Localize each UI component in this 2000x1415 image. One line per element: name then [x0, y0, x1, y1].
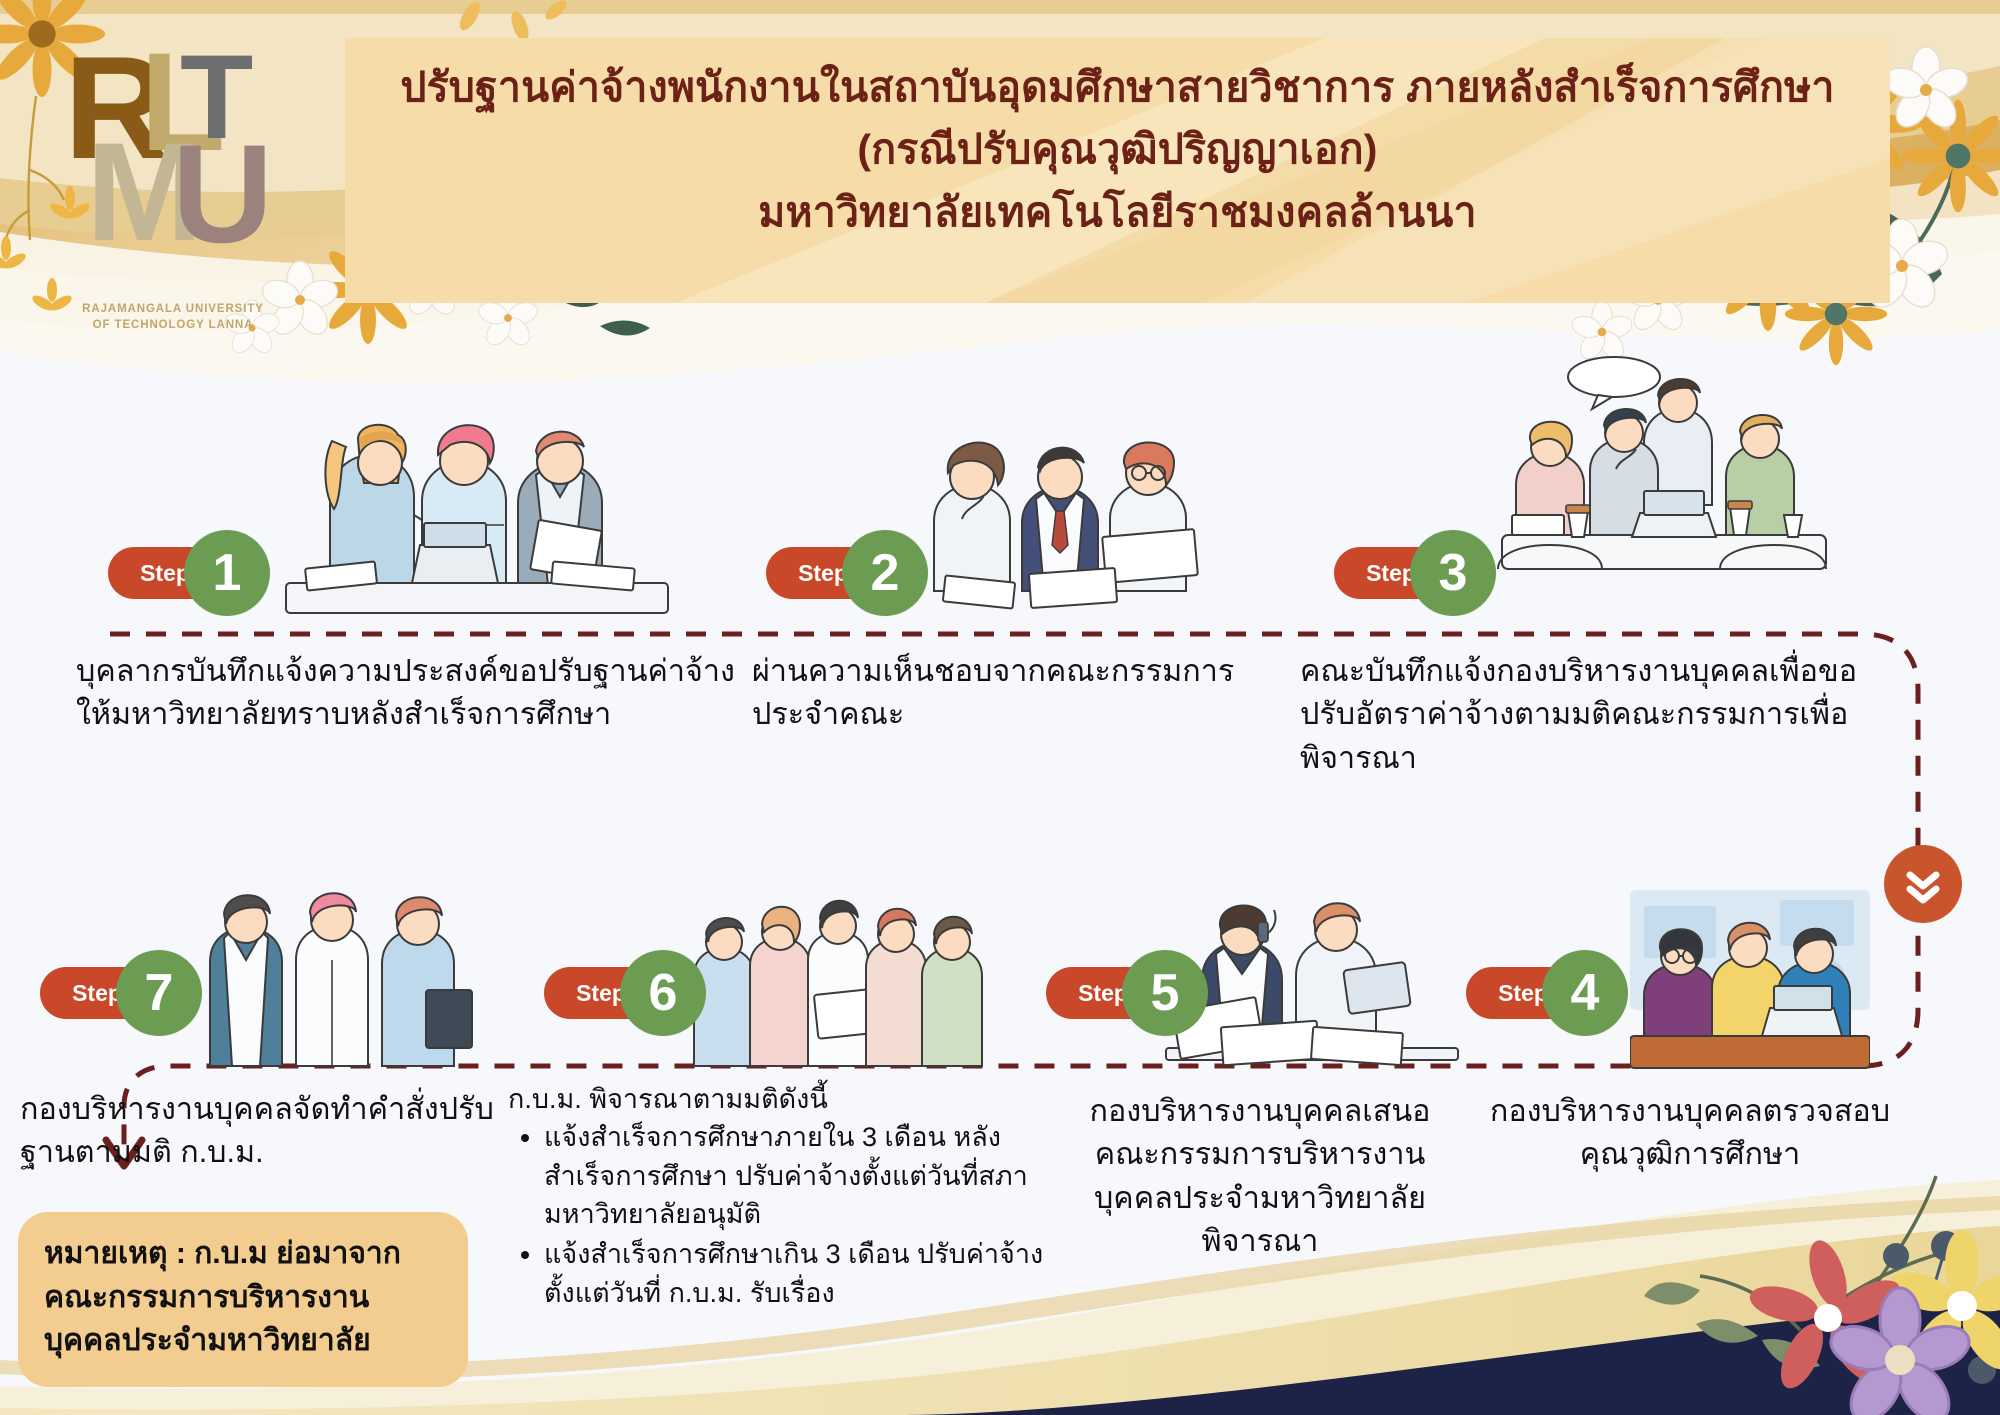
- step-3-description: คณะบันทึกแจ้งกองบริหารงานบุคคลเพื่อขอปรั…: [1300, 650, 1900, 780]
- step-7-description: กองบริหารงานบุคคลจัดทำคำสั่งปรับฐานตามมต…: [20, 1088, 500, 1175]
- step-1-badge[interactable]: Step 1: [108, 530, 270, 616]
- step-7-illustration: [200, 880, 490, 1080]
- logo-subtitle: RAJAMANGALA UNIVERSITY OF TECHNOLOGY LAN…: [68, 302, 278, 333]
- person-right-light-blue: [382, 897, 472, 1066]
- step-6-bullet-2: แจ้งสำเร็จการศึกษาเกิน 3 เดือน ปรับค่าจ้…: [544, 1235, 1068, 1312]
- step-6-badge[interactable]: Step 6: [544, 950, 706, 1036]
- step-4-illustration: [1630, 880, 1870, 1075]
- title-line-3: มหาวิทยาลัยเทคโนโลยีราชมงคลล้านนา: [345, 181, 1890, 243]
- step-2-description: ผ่านความเห็นชอบจากคณะกรรมการประจำคณะ: [752, 650, 1292, 737]
- step-2-illustration: [918, 415, 1228, 620]
- step-1-description: บุคลากรบันทึกแจ้งความประสงค์ขอปรับฐานค่า…: [76, 650, 736, 737]
- step-6-number: 6: [620, 950, 706, 1036]
- laptop-icon: [1632, 491, 1716, 537]
- step-6-heading: ก.บ.ม. พิจารณาตามมติดังนี้: [508, 1080, 1068, 1118]
- note-box: หมายเหตุ : ก.บ.ม ย่อมาจาก คณะกรรมการบริห…: [18, 1212, 468, 1387]
- step-4-number: 4: [1542, 950, 1628, 1036]
- title-line-1: ปรับฐานค่าจ้างพนักงานในสถาบันอุดมศึกษาสา…: [345, 56, 1890, 118]
- note-text: หมายเหตุ : ก.บ.ม ย่อมาจาก คณะกรรมการบริห…: [44, 1237, 401, 1357]
- step-3-number: 3: [1410, 530, 1496, 616]
- person-thinking: [934, 443, 1010, 591]
- step-7-badge[interactable]: Step 7: [40, 950, 202, 1036]
- flow-connector-button[interactable]: [1884, 845, 1962, 923]
- university-logo: R L T M U RAJAMANGALA UNIVERSITY OF TECH…: [62, 30, 282, 300]
- step-6-bullet-list: แจ้งสำเร็จการศึกษาภายใน 3 เดือน หลังสำเร…: [508, 1118, 1068, 1312]
- page-title: ปรับฐานค่าจ้างพนักงานในสถาบันอุดมศึกษาสา…: [345, 56, 1890, 243]
- speech-bubble-icon: [1568, 357, 1660, 409]
- logo-subtitle-line2: OF TECHNOLOGY LANNA: [68, 318, 278, 334]
- step-1-illustration: [272, 405, 682, 620]
- laptop-icon: [1762, 986, 1842, 1036]
- step-5-description: กองบริหารงานบุคคลเสนอคณะกรรมการบริหารงาน…: [1060, 1090, 1460, 1263]
- person-4: [866, 909, 926, 1066]
- step-3-illustration: [1494, 355, 1834, 625]
- step-6-description: ก.บ.ม. พิจารณาตามมติดังนี้ แจ้งสำเร็จการ…: [508, 1080, 1068, 1314]
- svg-text:U: U: [172, 115, 273, 245]
- person-glasses-reading: [1102, 442, 1198, 591]
- person-5: [922, 917, 982, 1066]
- title-line-2: (กรณีปรับคุณวุฒิปริญญาเอก): [345, 118, 1890, 180]
- step-6-illustration: [690, 880, 1020, 1080]
- double-chevron-down-icon: [1900, 861, 1946, 907]
- step-2-badge[interactable]: Step 2: [766, 530, 928, 616]
- step-5-badge[interactable]: Step 5: [1046, 950, 1208, 1036]
- step-5-number: 5: [1122, 950, 1208, 1036]
- laptop-icon: [412, 523, 498, 583]
- step-6-bullet-1: แจ้งสำเร็จการศึกษาภายใน 3 เดือน หลังสำเร…: [544, 1118, 1068, 1233]
- infographic-canvas: R L T M U RAJAMANGALA UNIVERSITY OF TECH…: [0, 0, 2000, 1415]
- step-3-badge[interactable]: Step 3: [1334, 530, 1496, 616]
- step-4-description: กองบริหารงานบุคคลตรวจสอบคุณวุฒิการศึกษา: [1470, 1090, 1910, 1177]
- step-2-number: 2: [842, 530, 928, 616]
- person-3: [808, 901, 874, 1066]
- logo-subtitle-line1: RAJAMANGALA UNIVERSITY: [68, 302, 278, 318]
- step-1-number: 1: [184, 530, 270, 616]
- step-7-number: 7: [116, 950, 202, 1036]
- rmutl-monogram-icon: R L T M U: [62, 30, 282, 245]
- person-center-white-coat: [296, 893, 368, 1066]
- person-2: [750, 907, 810, 1066]
- step-4-badge[interactable]: Step 4: [1466, 950, 1628, 1036]
- person-left-blue-coat: [210, 895, 282, 1066]
